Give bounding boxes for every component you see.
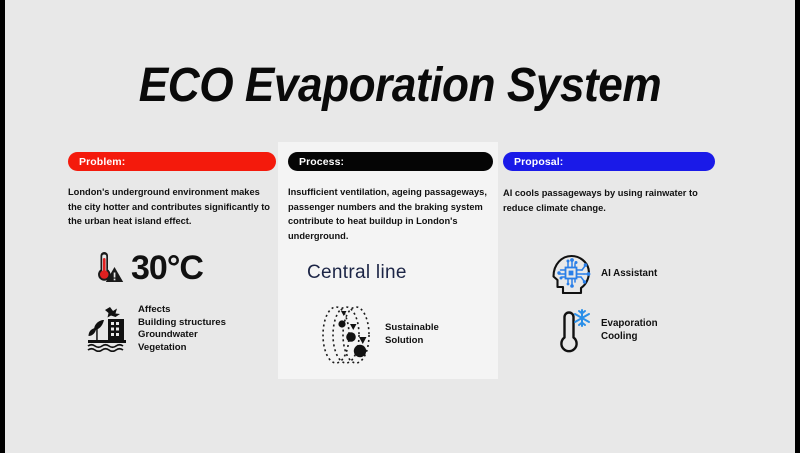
affects-line: Affects [138,304,226,317]
column-process: Process: Insufficient ventilation, agein… [288,152,493,244]
proposal-header-label: Proposal: [514,156,563,168]
column-proposal: Proposal: AI cools passageways by using … [503,152,715,215]
problem-header-label: Problem: [79,156,125,168]
ai-assistant-indicator: AI Assistant [550,252,657,296]
process-body-text: Insufficient ventilation, ageing passage… [288,185,493,244]
evaporation-cooling-line: Cooling [601,331,658,344]
left-edge-bar [0,0,5,453]
thermometer-snowflake-icon [552,307,592,355]
affects-list: Affects Building structures Groundwater … [138,304,226,355]
temperature-indicator: 30°C [95,249,203,287]
sustainable-line: Sustainable [385,322,439,335]
evaporation-cooling-label: Evaporation Cooling [601,318,658,344]
temperature-value: 30°C [131,251,203,285]
evaporation-cooling-line: Evaporation [601,318,658,331]
column-problem: Problem: London's underground environmen… [68,152,276,229]
thermometer-warning-icon [95,249,125,287]
page-title: ECO Evaporation System [32,58,768,113]
central-line-title: Central line [307,262,407,284]
evaporation-cooling-indicator: Evaporation Cooling [552,307,658,355]
proposal-header-pill: Proposal: [503,152,715,171]
factory-pollution-icon [86,306,130,352]
affects-line: Groundwater [138,329,226,342]
affects-line: Building structures [138,317,226,330]
slide-canvas: ECO Evaporation System Problem: London's… [0,0,800,453]
ai-assistant-label: AI Assistant [601,268,657,281]
ai-assistant-line: AI Assistant [601,268,657,281]
sustainable-solution-label: Sustainable Solution [385,322,439,348]
right-edge-bar [795,0,800,453]
ai-head-circuit-icon [550,252,594,296]
process-header-pill: Process: [288,152,493,171]
sustainable-solution-indicator: Sustainable Solution [320,304,439,366]
sustainable-line: Solution [385,335,439,348]
proposal-body-text: AI cools passageways by using rainwater … [503,186,715,215]
affects-indicator: Affects Building structures Groundwater … [86,304,226,355]
process-header-label: Process: [299,156,344,168]
affects-line: Vegetation [138,342,226,355]
growth-cycle-icon [320,304,376,366]
problem-body-text: London's underground environment makes t… [68,185,276,229]
problem-header-pill: Problem: [68,152,276,171]
